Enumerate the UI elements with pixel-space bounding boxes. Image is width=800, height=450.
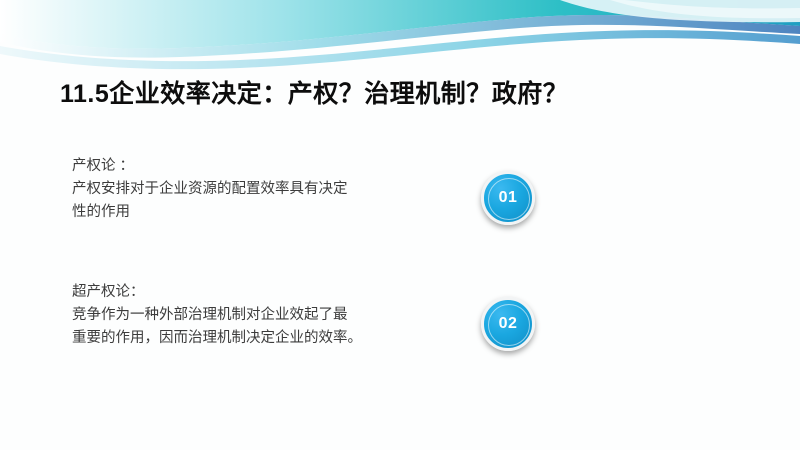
block-2-line-2: 竞争作为一种外部治理机制对企业效起了最 xyxy=(72,304,362,327)
badge-02: 02 xyxy=(481,297,535,351)
block-1-line-3: 性的作用 xyxy=(72,201,348,224)
block-1-line-2: 产权安排对于企业资源的配置效率具有决定 xyxy=(72,178,348,201)
content-block-1: 产权论 ： 产权安排对于企业资源的配置效率具有决定 性的作用 xyxy=(72,155,348,224)
block-2-line-1: 超产权论： xyxy=(72,281,362,304)
badge-02-label: 02 xyxy=(499,315,518,333)
slide: 11.5企业效率决定：产权？治理机制？政府？ 产权论 ： 产权安排对于企业资源的… xyxy=(0,0,800,450)
page-title: 11.5企业效率决定：产权？治理机制？政府？ xyxy=(60,74,568,110)
badge-01-label: 01 xyxy=(499,189,518,207)
block-2-line-3: 重要的作用，因而治理机制决定企业的效率。 xyxy=(72,327,362,350)
content-block-2: 超产权论： 竞争作为一种外部治理机制对企业效起了最 重要的作用，因而治理机制决定… xyxy=(72,281,362,350)
block-1-line-1: 产权论 ： xyxy=(72,155,348,178)
badge-01: 01 xyxy=(481,171,535,225)
header-wave-decoration xyxy=(0,0,800,80)
